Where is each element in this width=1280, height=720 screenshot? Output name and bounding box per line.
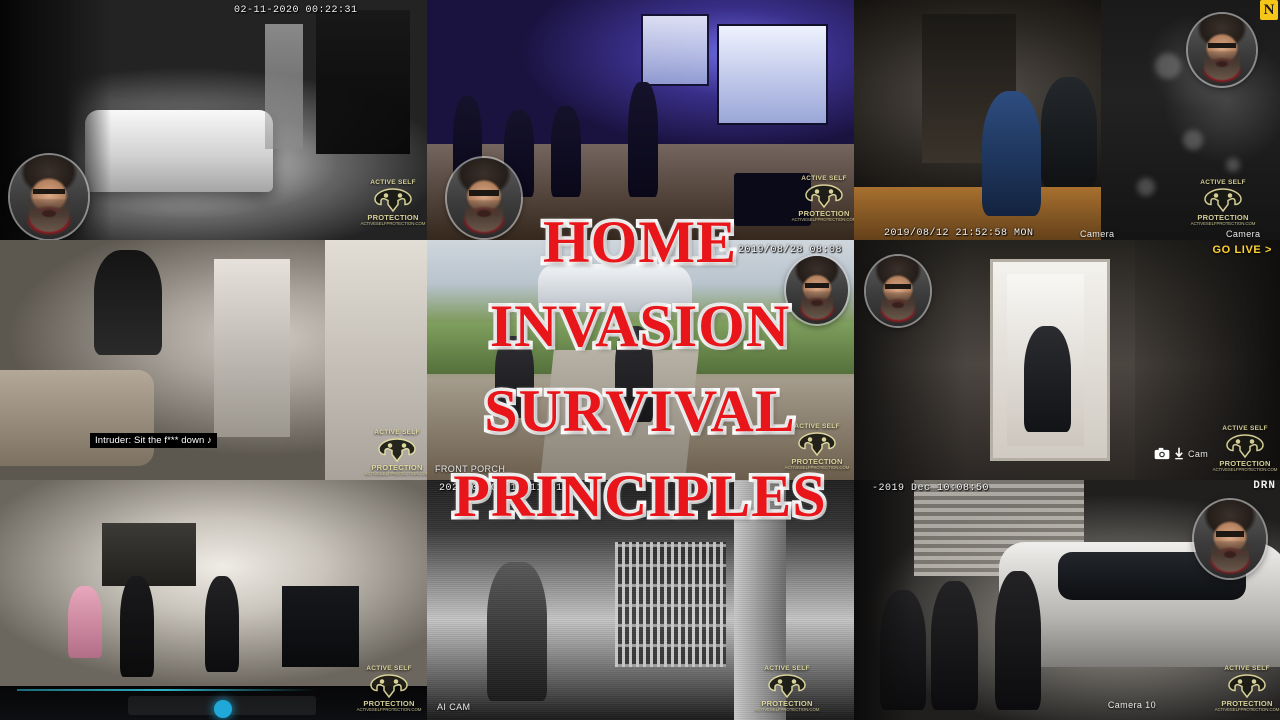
security-footage-gate-ir (427, 480, 854, 720)
host-avatar (447, 158, 521, 238)
scene-sofa (0, 370, 154, 466)
camera-label: Camera 10 (1108, 700, 1156, 710)
collage-tile-2: ACTIVE SELF PROTECTION ACTIVESELFPROTECT… (427, 0, 854, 240)
timestamp-overlay: 2019/08/28 08:08 (738, 245, 842, 256)
avatar-mouth (1224, 551, 1237, 558)
avatar-eyes (805, 283, 830, 288)
corner-badge: N (1260, 0, 1278, 20)
go-live-button[interactable]: GO LIVE > (1213, 244, 1273, 256)
host-avatar (1188, 14, 1256, 86)
collage-tile-4: Intruder: Sit the f*** down ♪ ACTIVE SEL… (0, 240, 427, 480)
scene-tv (282, 586, 359, 668)
avatar-eyes (469, 190, 499, 196)
scene-figure (982, 91, 1042, 216)
avatar-mouth (477, 210, 490, 217)
avatar-eyes (1216, 531, 1245, 536)
scene-furniture (734, 173, 811, 226)
scene-figure (120, 576, 154, 677)
scene-figure (995, 571, 1042, 710)
camera-label: Cam (1188, 449, 1208, 459)
camera-label: Camera (1226, 229, 1260, 239)
avatar-eyes (1208, 43, 1235, 48)
dvr-corner-label: DRN (1253, 480, 1276, 492)
host-avatar (786, 256, 848, 324)
collage-tile-1: 02-11-2020 00:22:31 ACTIVE SELF PROTECTI… (0, 0, 427, 240)
camera-label: Camera (1080, 229, 1114, 239)
collage-tile-9: -2019 Dec 10:08:50 DRN Camera 10 ACTIVE … (854, 480, 1280, 720)
scene-figure (615, 326, 653, 422)
security-footage-bedroom-monitor (0, 480, 427, 720)
scene-noise (427, 480, 854, 720)
snapshot-controls[interactable]: Cam (1154, 447, 1208, 460)
scene-figure (628, 82, 658, 197)
avatar-eyes (885, 284, 911, 289)
scene-tv (717, 24, 828, 125)
collage-tile-3: N 2019/08/12 21:52:58 MON Camera Camera … (854, 0, 1280, 240)
scene-figure (94, 250, 162, 356)
scene-wall (854, 480, 914, 720)
scene-figure (551, 106, 581, 197)
subtitle-caption: Intruder: Sit the f*** down ♪ (90, 433, 217, 448)
collage-tile-5: 2019/08/28 08:08 FRONT PORCH ACTIVE SELF… (427, 240, 854, 480)
avatar-mouth (42, 210, 56, 218)
camera-label: AI CAM (437, 702, 470, 712)
scene-figure (205, 576, 239, 672)
scene-figure (68, 586, 102, 658)
scene-decor (265, 24, 303, 149)
scene-appliance (214, 259, 291, 437)
scene-figure (931, 581, 978, 711)
avatar-eyes (33, 189, 64, 195)
play-button[interactable] (214, 700, 232, 718)
collage-tile-6: GO LIVE > Cam ACTIVE SELF (854, 240, 1280, 480)
timestamp-overlay: 2020-09-02 12:11:41 (439, 483, 563, 494)
timestamp-overlay: 2019/08/12 21:52:58 MON (884, 228, 1034, 239)
thumbnail-collage: 02-11-2020 00:22:31 ACTIVE SELF PROTECTI… (0, 0, 1280, 720)
ir-glare (1226, 158, 1240, 172)
scene-wall-art (102, 523, 196, 585)
scene-figure (1041, 77, 1096, 187)
scene-figure (495, 336, 533, 418)
ir-glare (1155, 53, 1181, 79)
scene-figure (1024, 326, 1071, 432)
avatar-mouth (892, 302, 904, 308)
scene-tv (641, 14, 709, 86)
collage-tile-7: ACTIVE SELF PROTECTION ACTIVESELFPROTECT… (0, 480, 427, 720)
camera-icon[interactable] (1154, 447, 1170, 460)
timestamp-overlay: 02-11-2020 00:22:31 (234, 5, 358, 16)
collage-tile-8: 2020-09-02 12:11:41 AI CAM ACTIVE SELF P… (427, 480, 854, 720)
timestamp-overlay: -2019 Dec 10:08:50 (872, 483, 989, 494)
progress-bar[interactable] (17, 689, 316, 691)
host-avatar (866, 256, 930, 326)
scene-decor (316, 10, 410, 154)
camera-label: FRONT PORCH (435, 464, 505, 474)
scene-wall (1135, 240, 1280, 480)
download-arrow-icon[interactable] (1174, 447, 1184, 460)
host-avatar (1194, 500, 1266, 578)
scene-wall (325, 240, 427, 480)
host-avatar (10, 155, 88, 239)
ir-glare (1183, 130, 1203, 150)
scene-car (538, 264, 692, 312)
ir-glare (1137, 178, 1155, 196)
